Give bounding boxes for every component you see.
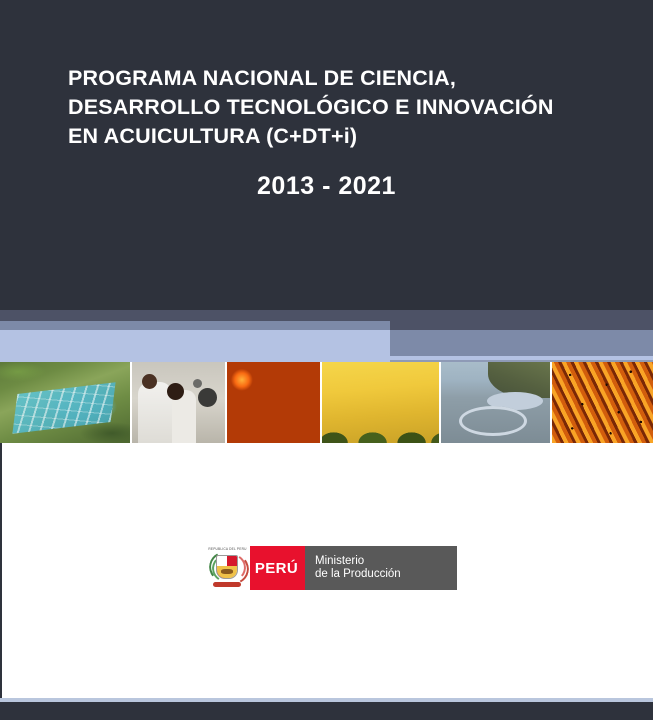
photo-hatchery-greenhouse <box>320 362 439 443</box>
band-light-left <box>0 330 390 362</box>
cover-header: PROGRAMA NACIONAL DE CIENCIA, DESARROLLO… <box>0 0 653 310</box>
document-cover-page: PROGRAMA NACIONAL DE CIENCIA, DESARROLLO… <box>0 0 653 720</box>
photo-floating-net-cages <box>439 362 551 443</box>
photo-strip <box>0 362 653 443</box>
band-slate-right <box>390 321 653 330</box>
band-slate-full <box>0 310 653 321</box>
band-medium-right <box>390 330 653 356</box>
peru-coat-of-arms-icon: REPUBLICA DEL PERU <box>205 546 250 590</box>
crest-shield-base <box>217 566 237 578</box>
title-line-1: PROGRAMA NACIONAL DE CIENCIA, <box>68 64 608 93</box>
left-edge-rule <box>0 443 2 700</box>
crest-shield <box>216 555 238 579</box>
ministry-line-1: Ministerio <box>315 555 457 569</box>
title-line-3: EN ACUICULTURA (C+DT+i) <box>68 122 608 151</box>
photo-fish-roe-closeup <box>225 362 320 443</box>
title-line-2: DESARROLLO TECNOLÓGICO E INNOVACIÓN <box>68 93 608 122</box>
footer-band <box>0 702 653 720</box>
institutional-logo: REPUBLICA DEL PERU PERÚ Ministerio de la… <box>205 546 457 590</box>
photo-fish-harvest <box>550 362 653 443</box>
photo-laboratory-technicians <box>130 362 225 443</box>
logo-ministry-block: Ministerio de la Producción <box>303 546 457 590</box>
decorative-bands <box>0 310 653 362</box>
crest-ribbon <box>213 582 241 587</box>
band-medium-left <box>0 321 390 330</box>
period-subtitle: 2013 - 2021 <box>0 172 653 201</box>
logo-country-label: PERÚ <box>250 546 303 590</box>
page-title: PROGRAMA NACIONAL DE CIENCIA, DESARROLLO… <box>68 64 608 151</box>
photo-aerial-aquaculture-ponds <box>0 362 130 443</box>
ministry-line-2: de la Producción <box>315 568 457 582</box>
